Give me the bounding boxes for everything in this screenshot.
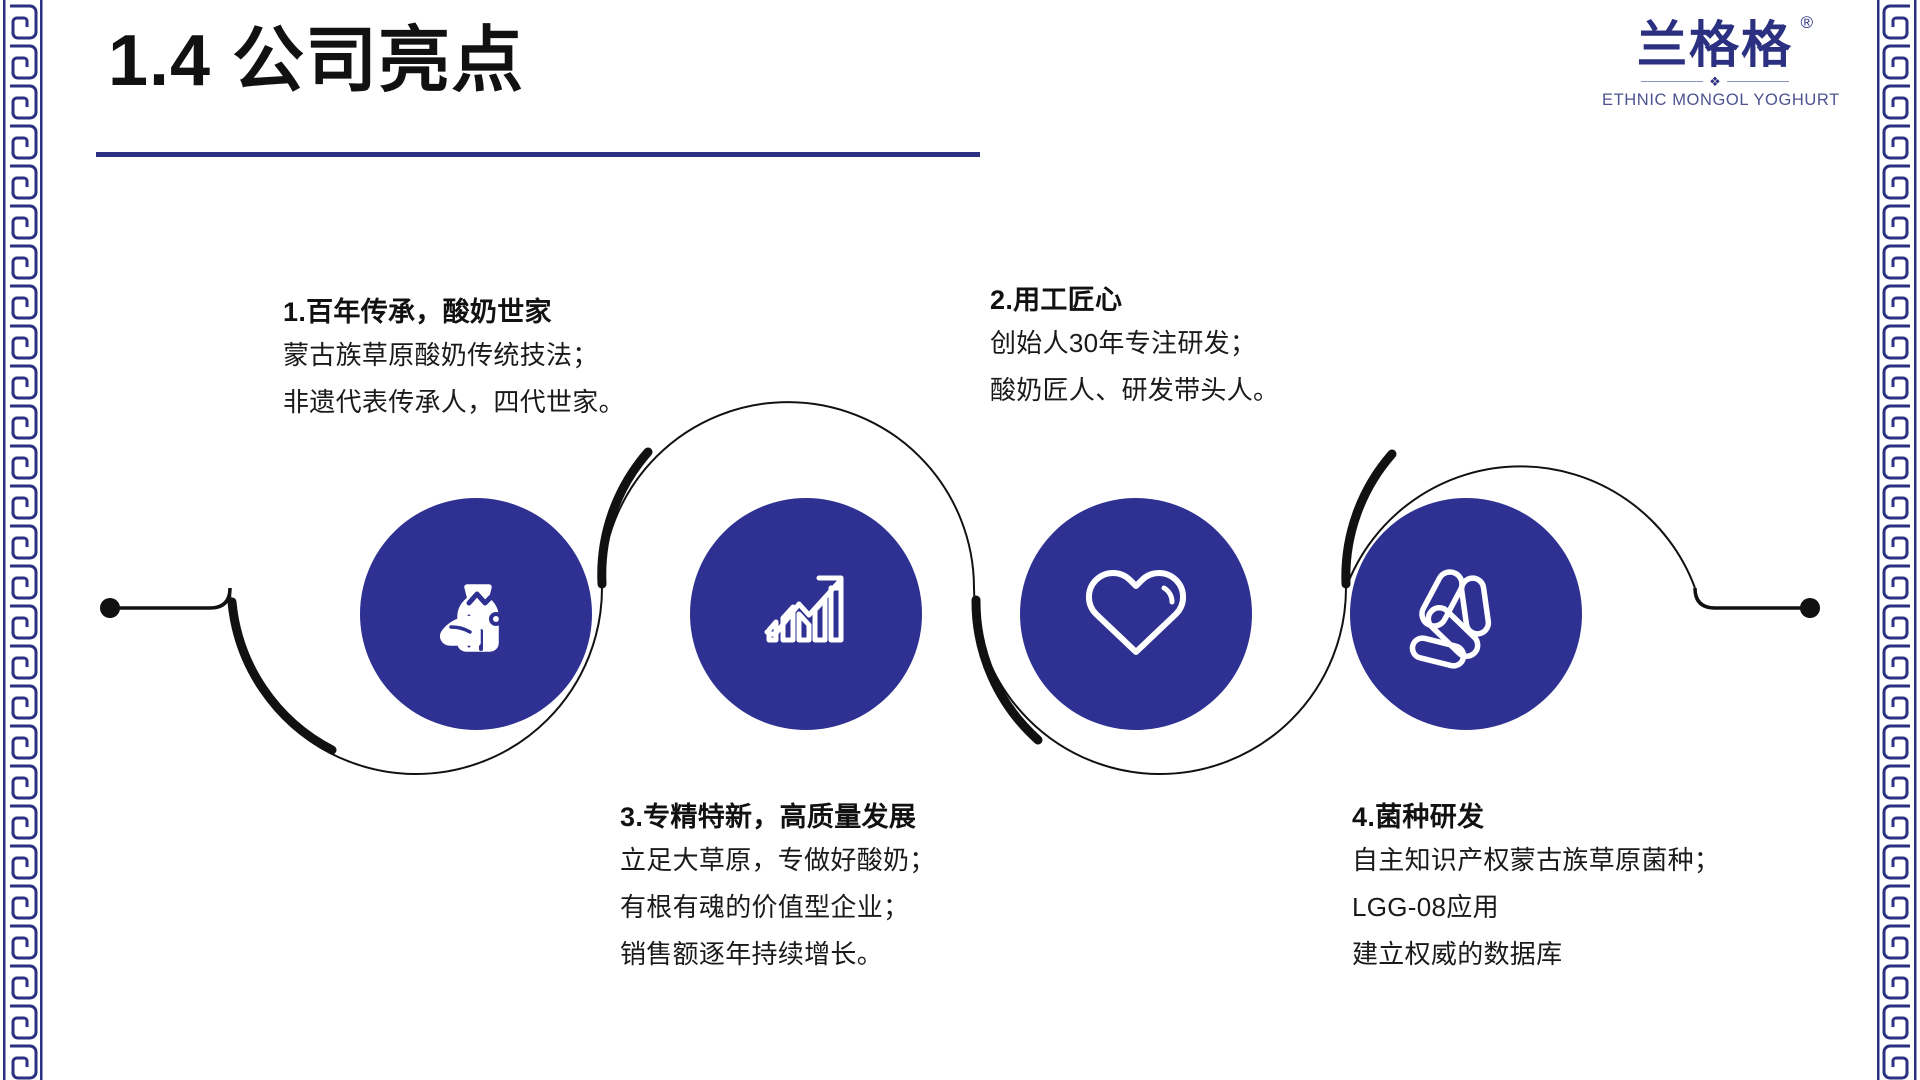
highlight-block-3: 3.专精特新，高质量发展 立足大草原，专做好酸奶； 有根有魂的价值型企业； 销售… (620, 795, 936, 973)
bacteria-icon (1408, 556, 1524, 672)
block-1-heading: 1.百年传承，酸奶世家 (283, 290, 625, 329)
node-circle-3[interactable] (1020, 498, 1252, 730)
block-2-heading: 2.用工匠心 (990, 278, 1279, 317)
block-1-line-1: 蒙古族草原酸奶传统技法； (283, 337, 625, 374)
company-logo: 兰格格 ® ❖ ETHNIC MONGOL YOGHURT (1602, 18, 1828, 110)
block-4-heading: 4.菌种研发 (1352, 795, 1720, 834)
block-3-line-1: 立足大草原，专做好酸奶； (620, 842, 936, 879)
logo-subtitle: ETHNIC MONGOL YOGHURT (1602, 91, 1828, 110)
flow-endpoint-right (1800, 598, 1820, 618)
highlight-block-4: 4.菌种研发 自主知识产权蒙古族草原菌种； LGG-08应用 建立权威的数据库 (1352, 795, 1720, 973)
node-circle-1[interactable] (360, 498, 592, 730)
logo-wordmark: 兰格格 ® (1637, 18, 1793, 73)
flow-endpoint-left (100, 598, 120, 618)
block-3-heading: 3.专精特新，高质量发展 (620, 795, 936, 834)
registered-trademark-icon: ® (1800, 14, 1815, 33)
heart-icon (1072, 558, 1200, 670)
slide-canvas: 1.4 公司亮点 兰格格 ® ❖ ETHNIC MONGOL YOGHURT (0, 0, 1920, 1080)
block-1-line-2: 非遗代表传承人，四代世家。 (283, 384, 625, 421)
node-circle-2[interactable] (690, 498, 922, 730)
logo-wordmark-text: 兰格格 (1637, 17, 1793, 73)
block-3-line-3: 销售额逐年持续增长。 (620, 936, 936, 973)
block-2-line-1: 创始人30年专注研发； (990, 325, 1279, 362)
block-2-line-2: 酸奶匠人、研发带头人。 (990, 372, 1279, 409)
logo-ornament-icon: ❖ (1709, 75, 1721, 88)
flow-connector-graphic (0, 400, 1920, 820)
title-underline (96, 152, 980, 157)
growth-chart-icon (747, 558, 865, 670)
logo-divider: ❖ (1602, 75, 1828, 88)
milk-bottle-icon (421, 559, 531, 669)
page-title-wrap: 1.4 公司亮点 (108, 24, 524, 100)
logo-divider-line-right (1727, 81, 1789, 82)
node-circle-4[interactable] (1350, 498, 1582, 730)
block-4-line-1: 自主知识产权蒙古族草原菌种； (1352, 842, 1720, 879)
page-title: 1.4 公司亮点 (108, 24, 524, 100)
block-4-line-3: 建立权威的数据库 (1352, 936, 1720, 973)
highlight-block-2: 2.用工匠心 创始人30年专注研发； 酸奶匠人、研发带头人。 (990, 278, 1279, 409)
highlight-block-1: 1.百年传承，酸奶世家 蒙古族草原酸奶传统技法； 非遗代表传承人，四代世家。 (283, 290, 625, 421)
logo-divider-line-left (1641, 81, 1703, 82)
block-3-line-2: 有根有魂的价值型企业； (620, 889, 936, 926)
block-4-line-2: LGG-08应用 (1352, 889, 1720, 926)
